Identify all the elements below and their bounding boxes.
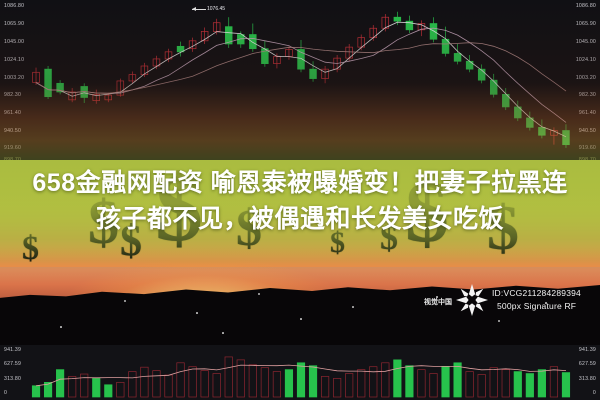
watermark-license: 500px Signature RF [497, 301, 576, 311]
price-ytick-left-7: 940.50 [4, 128, 21, 134]
watermark-brand: 视觉中国 [424, 297, 452, 307]
screenshot-root: 1086.80 1065.90 1045.00 1024.10 1003.20 … [0, 0, 600, 400]
sparkle [196, 312, 198, 314]
price-ytick-right-2: 1045.00 [576, 39, 596, 45]
volume-ytick-left-3: 0 [4, 390, 7, 396]
price-annotation-label: 1076.45 [207, 6, 225, 12]
volume-chart-plot [0, 345, 600, 400]
price-annotation: 1076.45 [192, 6, 225, 12]
price-ytick-right-6: 961.40 [579, 110, 596, 116]
price-ytick-right-7: 940.50 [579, 128, 596, 134]
sparkle [222, 332, 224, 334]
sparkle [124, 300, 126, 302]
headline: 658金融网配资 喻恩泰被曝婚变！把妻子拉黑连 孩子都不见，被偶遇和长发美女吃饭 [0, 166, 600, 237]
price-ytick-left-9: 898.70 [4, 157, 21, 160]
sparkle [258, 293, 260, 295]
volume-ytick-right-0: 941.39 [579, 347, 596, 353]
watermark-id: ID:VCG211284289394 [492, 288, 581, 298]
price-ytick-right-8: 919.60 [579, 145, 596, 151]
price-ytick-right-0: 1086.80 [576, 3, 596, 9]
price-ytick-left-1: 1065.90 [4, 21, 24, 27]
price-ytick-left-8: 919.60 [4, 145, 21, 151]
price-ytick-right-3: 1024.10 [576, 57, 596, 63]
price-ytick-left-6: 961.40 [4, 110, 21, 116]
price-ytick-left-5: 982.30 [4, 92, 21, 98]
price-chart-panel: 1086.80 1065.90 1045.00 1024.10 1003.20 … [0, 0, 600, 160]
headline-line-1: 658金融网配资 喻恩泰被曝婚变！把妻子拉黑连 [0, 166, 600, 202]
sparkle [498, 320, 500, 322]
volume-ytick-right-1: 627.59 [579, 361, 596, 367]
starburst-icon [454, 282, 490, 318]
price-ytick-left-0: 1086.80 [4, 3, 24, 9]
left-arrow-icon [192, 9, 206, 10]
volume-ytick-left-2: 313.80 [4, 376, 21, 382]
volume-ytick-left-0: 941.39 [4, 347, 21, 353]
sparkle [300, 318, 302, 320]
volume-ytick-right-2: 313.80 [579, 376, 596, 382]
sunset-photo: $ $ $ $ $ $ $ $ $ 658金融网配资 喻恩泰被曝婚变！把妻子拉黑… [0, 160, 600, 345]
price-ytick-right-4: 1003.20 [576, 75, 596, 81]
volume-ytick-right-3: 0 [593, 390, 596, 396]
price-chart-plot [0, 0, 600, 160]
dollar-sign-silhouette: $ [22, 234, 39, 264]
sparkle [60, 326, 62, 328]
price-ytick-left-2: 1045.00 [4, 39, 24, 45]
price-ytick-right-5: 982.30 [579, 92, 596, 98]
price-ytick-right-9: 898.70 [579, 157, 596, 160]
price-ytick-left-4: 1003.20 [4, 75, 24, 81]
volume-ytick-left-1: 627.59 [4, 361, 21, 367]
price-ytick-right-1: 1065.90 [576, 21, 596, 27]
sparkle [352, 306, 354, 308]
volume-chart-panel: 941.39 627.59 313.80 0 941.39 627.59 313… [0, 345, 600, 400]
headline-line-2: 孩子都不见，被偶遇和长发美女吃饭 [0, 202, 600, 238]
price-ytick-left-3: 1024.10 [4, 57, 24, 63]
